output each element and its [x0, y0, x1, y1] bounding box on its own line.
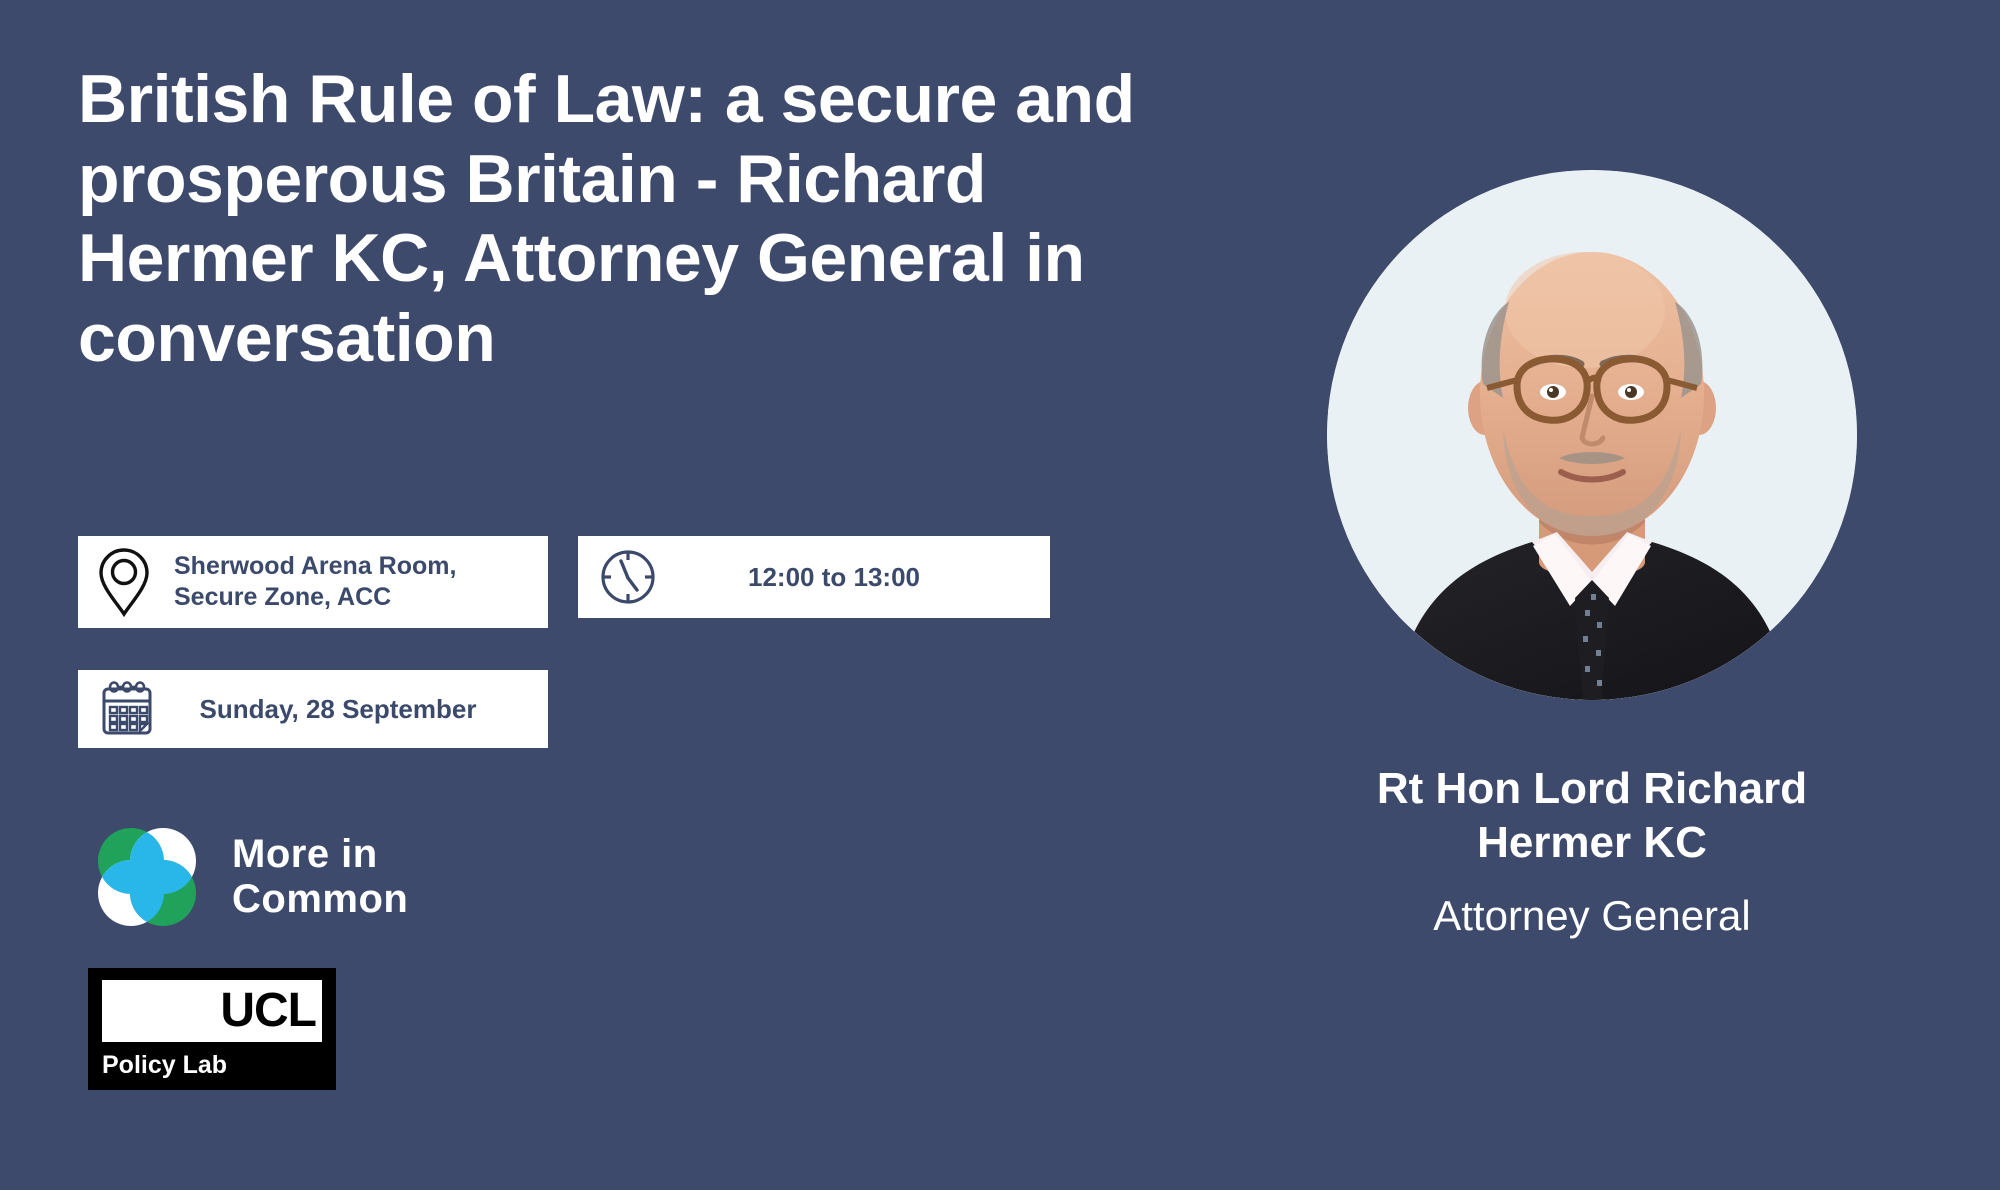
- calendar-icon: [96, 678, 158, 740]
- location-line-2: Secure Zone, ACC: [174, 583, 391, 611]
- speaker-name: Rt Hon Lord Richard Hermer KC: [1322, 762, 1862, 869]
- ucl-wordmark: UCL: [220, 987, 316, 1035]
- more-in-common-mark-icon: [88, 818, 206, 936]
- date-badge-label: Sunday, 28 September: [174, 693, 530, 725]
- time-badge-label: 12:00 to 13:00: [676, 561, 1032, 593]
- event-promo-slide: British Rule of Law: a secure and prospe…: [0, 0, 2000, 1190]
- event-meta-row-primary: Sherwood Arena Room, Secure Zone, ACC 12…: [78, 536, 1050, 628]
- time-badge: 12:00 to 13:00: [578, 536, 1050, 618]
- date-badge: Sunday, 28 September: [78, 670, 548, 748]
- location-line-1: Sherwood Arena Room,: [174, 552, 456, 580]
- more-in-common-wordmark: More in Common: [232, 832, 408, 922]
- speaker-portrait: [1327, 170, 1857, 700]
- location-badge-label: Sherwood Arena Room, Secure Zone, ACC: [168, 551, 530, 613]
- clock-icon: [596, 545, 660, 609]
- speaker-name-line-1: Rt Hon Lord Richard: [1377, 764, 1807, 813]
- speaker-role: Attorney General: [1433, 891, 1751, 941]
- mic-word-line-2: Common: [232, 877, 408, 921]
- ucl-policy-lab-logo: UCL Policy Lab: [88, 968, 336, 1090]
- page-title: British Rule of Law: a secure and prospe…: [78, 60, 1213, 378]
- map-pin-icon: [96, 546, 152, 618]
- speaker-name-line-2: Hermer KC: [1477, 818, 1707, 867]
- speaker-block: Rt Hon Lord Richard Hermer KC Attorney G…: [1262, 170, 1922, 942]
- more-in-common-logo: More in Common: [88, 818, 408, 936]
- policy-lab-label: Policy Lab: [102, 1051, 322, 1080]
- location-badge: Sherwood Arena Room, Secure Zone, ACC: [78, 536, 548, 628]
- ucl-mark-box: UCL: [102, 980, 322, 1042]
- event-meta-row-secondary: Sunday, 28 September: [78, 670, 548, 748]
- mic-word-line-1: More in: [232, 832, 378, 876]
- event-info-column: British Rule of Law: a secure and prospe…: [78, 60, 1238, 378]
